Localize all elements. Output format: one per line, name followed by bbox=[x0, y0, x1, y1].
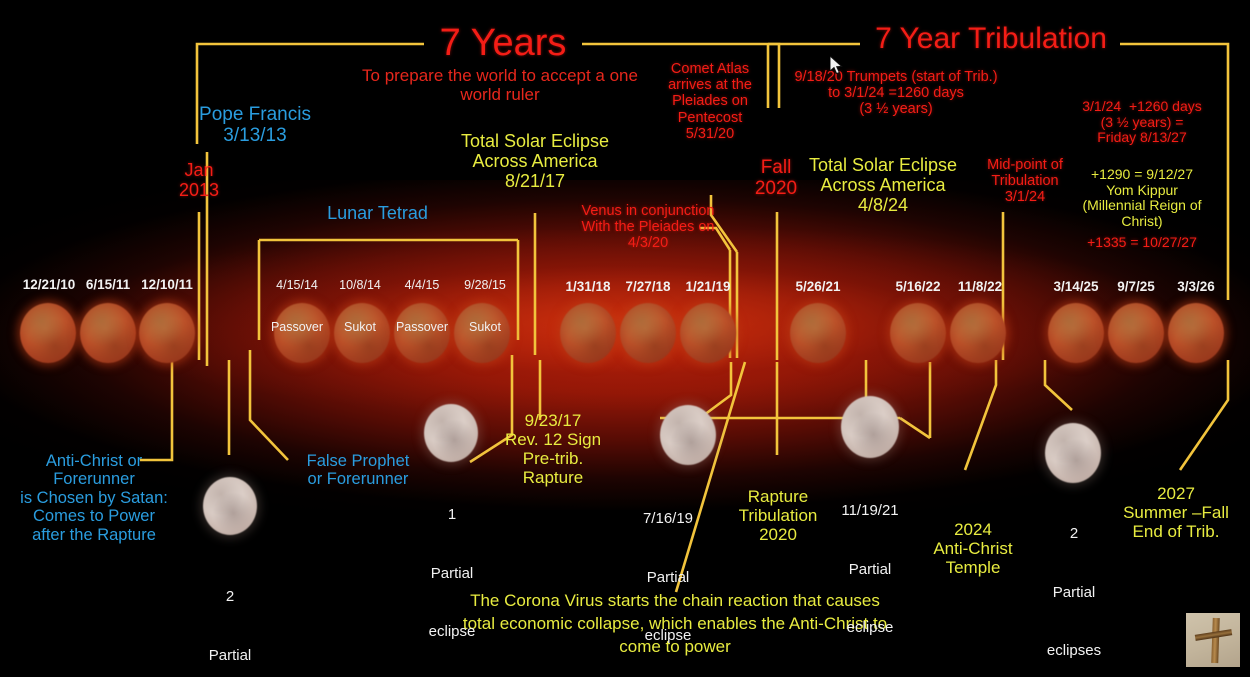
partial-eclipse-line2: eclipse bbox=[822, 618, 918, 638]
annotation-end-of-tribulation: 2027 Summer –Fall End of Trib. bbox=[1106, 484, 1246, 541]
partial-eclipse-line2: eclipses bbox=[1028, 641, 1120, 661]
blood-moon bbox=[620, 303, 676, 363]
annotation-pope-francis: Pope Francis 3/13/13 bbox=[180, 104, 330, 147]
tetrad-date: 4/15/14 bbox=[262, 278, 332, 292]
tetrad-feast: Sukot bbox=[325, 320, 395, 334]
tetrad-feast: Passover bbox=[387, 320, 457, 334]
tetrad-feast: Passover bbox=[262, 320, 332, 334]
moon-date-label: 12/10/11 bbox=[130, 277, 204, 292]
partial-eclipse-count: 1 bbox=[406, 505, 498, 525]
tetrad-date: 9/28/15 bbox=[450, 278, 520, 292]
blood-moon bbox=[560, 303, 616, 363]
annotation-venus-conjunction: Venus in conjunction With the Pleiades o… bbox=[568, 203, 728, 252]
blood-moon bbox=[1168, 303, 1224, 363]
annotation-plus-1260-days: 3/1/24 +1260 days (3 ½ years) = Friday 8… bbox=[1055, 99, 1229, 146]
annotation-rapture-tribulation-2020: Rapture Tribulation 2020 bbox=[726, 487, 830, 544]
partial-eclipse-line2: eclipse bbox=[620, 626, 716, 646]
partial-eclipse-caption: 1 Partial eclipse bbox=[406, 466, 498, 677]
blood-moon bbox=[80, 303, 136, 363]
annotation-plus-1290-yom-kippur: +1290 = 9/12/27 Yom Kippur (Millennial R… bbox=[1050, 167, 1234, 230]
tetrad-label: 4/15/14 Passover bbox=[262, 250, 332, 362]
partial-eclipse-moon bbox=[1045, 423, 1101, 483]
blood-moon bbox=[20, 303, 76, 363]
partial-eclipse-count: 2 bbox=[1028, 524, 1120, 544]
tetrad-label: 9/28/15 Sukot bbox=[450, 250, 520, 362]
moon-date-label: 3/3/26 bbox=[1159, 279, 1233, 294]
moon-date-label: 5/26/21 bbox=[781, 279, 855, 294]
annotation-rev12-sign-rapture: 9/23/17 Rev. 12 Sign Pre-trib. Rapture bbox=[498, 411, 608, 487]
annotation-trumpets-1260-days: 9/18/20 Trumpets (start of Trib.) to 3/1… bbox=[780, 69, 1012, 118]
blood-moon bbox=[680, 303, 736, 363]
partial-eclipse-line2: eclipse bbox=[406, 622, 498, 642]
annotation-total-solar-eclipse-2017: Total Solar Eclipse Across America 8/21/… bbox=[440, 131, 630, 191]
timeline-infographic: 7 Years To prepare the world to accept a… bbox=[0, 0, 1250, 677]
partial-eclipse-line1: Partial bbox=[822, 560, 918, 580]
partial-eclipse-count: 2 bbox=[184, 587, 276, 607]
cross-vertical-beam bbox=[1211, 618, 1220, 663]
blood-moon bbox=[790, 303, 846, 363]
partial-eclipse-moon bbox=[660, 405, 716, 465]
annotation-antichrist-chosen: Anti-Christ or Forerunner is Chosen by S… bbox=[10, 452, 178, 544]
title-7-year-tribulation: 7 Year Tribulation bbox=[860, 22, 1122, 56]
tetrad-label: 10/8/14 Sukot bbox=[325, 250, 395, 362]
annotation-total-solar-eclipse-2024: Total Solar Eclipse Across America 4/8/2… bbox=[788, 155, 978, 215]
tetrad-feast: Sukot bbox=[450, 320, 520, 334]
blood-moon bbox=[1108, 303, 1164, 363]
annotation-lunar-tetrad: Lunar Tetrad bbox=[300, 203, 455, 223]
partial-eclipse-line1: Partial bbox=[620, 568, 716, 588]
blood-moon bbox=[139, 303, 195, 363]
partial-eclipse-line1: Partial bbox=[1028, 583, 1120, 603]
partial-eclipse-caption: 2 Partial eclipses bbox=[1028, 485, 1120, 677]
partial-eclipse-caption: 2 Partial eclipses bbox=[184, 548, 276, 677]
blood-moon bbox=[1048, 303, 1104, 363]
tetrad-date: 4/4/15 bbox=[387, 278, 457, 292]
title-7-years: 7 Years bbox=[424, 22, 582, 65]
partial-eclipse-caption: 11/19/21 Partial eclipse bbox=[822, 462, 918, 677]
blood-moon bbox=[890, 303, 946, 363]
partial-eclipse-moon bbox=[203, 477, 257, 535]
annotation-comet-atlas: Comet Atlas arrives at the Pleiades on P… bbox=[650, 61, 770, 142]
annotation-plus-1335: +1335 = 10/27/27 bbox=[1056, 235, 1228, 251]
tetrad-date: 10/8/14 bbox=[325, 278, 395, 292]
partial-eclipse-date: 11/19/21 bbox=[822, 501, 918, 521]
annotation-antichrist-temple: 2024 Anti-Christ Temple bbox=[920, 520, 1026, 577]
partial-eclipse-moon bbox=[424, 404, 478, 462]
moon-date-label: 1/21/19 bbox=[671, 279, 745, 294]
partial-eclipse-date: 7/16/19 bbox=[620, 509, 716, 529]
partial-eclipse-line1: Partial bbox=[406, 564, 498, 584]
partial-eclipse-moon bbox=[841, 396, 899, 458]
partial-eclipse-caption: 7/16/19 Partial eclipse bbox=[620, 470, 716, 677]
wooden-cross-logo bbox=[1186, 613, 1240, 667]
partial-eclipse-line1: Partial bbox=[184, 646, 276, 666]
moon-date-label: 11/8/22 bbox=[943, 279, 1017, 294]
annotation-jan-2013: Jan 2013 bbox=[164, 160, 234, 200]
tetrad-label: 4/4/15 Passover bbox=[387, 250, 457, 362]
title-7-years-subtitle: To prepare the world to accept a one wor… bbox=[310, 66, 690, 104]
blood-moon bbox=[950, 303, 1006, 363]
